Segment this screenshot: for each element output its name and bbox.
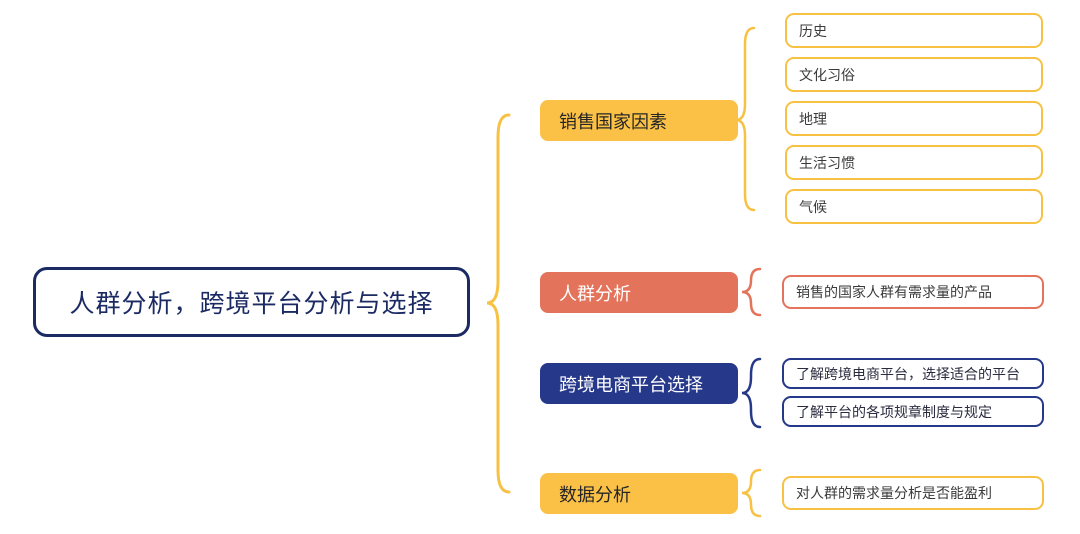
root-node[interactable]: 人群分析，跨境平台分析与选择 xyxy=(33,267,470,337)
branch-node-cross-border-platform-selection[interactable]: 跨境电商平台选择 xyxy=(540,363,738,404)
leaf-node-label: 销售的国家人群有需求量的产品 xyxy=(796,282,992,302)
main-brace-root-to-branches xyxy=(487,115,509,492)
leaf-node-living-habits[interactable]: 生活习惯 xyxy=(785,145,1043,180)
leaf-node-label: 地理 xyxy=(799,109,827,129)
leaf-node-understand-platforms[interactable]: 了解跨境电商平台，选择适合的平台 xyxy=(782,358,1044,389)
branch-node-label: 数据分析 xyxy=(559,481,631,507)
mindmap-canvas: 人群分析，跨境平台分析与选择 销售国家因素 历史 文化习俗 地理 生活习惯 气候… xyxy=(0,0,1080,534)
leaf-node-geography[interactable]: 地理 xyxy=(785,101,1043,136)
leaf-node-platform-rules[interactable]: 了解平台的各项规章制度与规定 xyxy=(782,396,1044,427)
leaf-node-history[interactable]: 历史 xyxy=(785,13,1043,48)
leaf-node-label: 了解平台的各项规章制度与规定 xyxy=(796,402,992,422)
leaf-node-label: 生活习惯 xyxy=(799,153,855,173)
leaf-node-cultural-customs[interactable]: 文化习俗 xyxy=(785,57,1043,92)
leaf-node-label: 文化习俗 xyxy=(799,65,855,85)
brace-cross-border-platform-selection xyxy=(742,359,760,427)
brace-crowd-analysis xyxy=(742,269,760,315)
leaf-node-label: 了解跨境电商平台，选择适合的平台 xyxy=(796,364,1020,384)
branch-node-label: 销售国家因素 xyxy=(559,108,667,134)
leaf-node-climate[interactable]: 气候 xyxy=(785,189,1043,224)
brace-sales-country-factors xyxy=(736,28,754,210)
leaf-node-profitability-analysis[interactable]: 对人群的需求量分析是否能盈利 xyxy=(782,476,1044,510)
branch-node-sales-country-factors[interactable]: 销售国家因素 xyxy=(540,100,738,141)
branch-node-label: 人群分析 xyxy=(559,280,631,306)
leaf-node-label: 气候 xyxy=(799,197,827,217)
branch-node-data-analysis[interactable]: 数据分析 xyxy=(540,473,738,514)
branch-node-label: 跨境电商平台选择 xyxy=(559,371,703,397)
root-node-label: 人群分析，跨境平台分析与选择 xyxy=(69,284,433,320)
branch-node-crowd-analysis[interactable]: 人群分析 xyxy=(540,272,738,313)
leaf-node-demanded-products[interactable]: 销售的国家人群有需求量的产品 xyxy=(782,275,1044,309)
brace-data-analysis xyxy=(742,470,760,516)
leaf-node-label: 历史 xyxy=(799,21,827,41)
leaf-node-label: 对人群的需求量分析是否能盈利 xyxy=(796,483,992,503)
